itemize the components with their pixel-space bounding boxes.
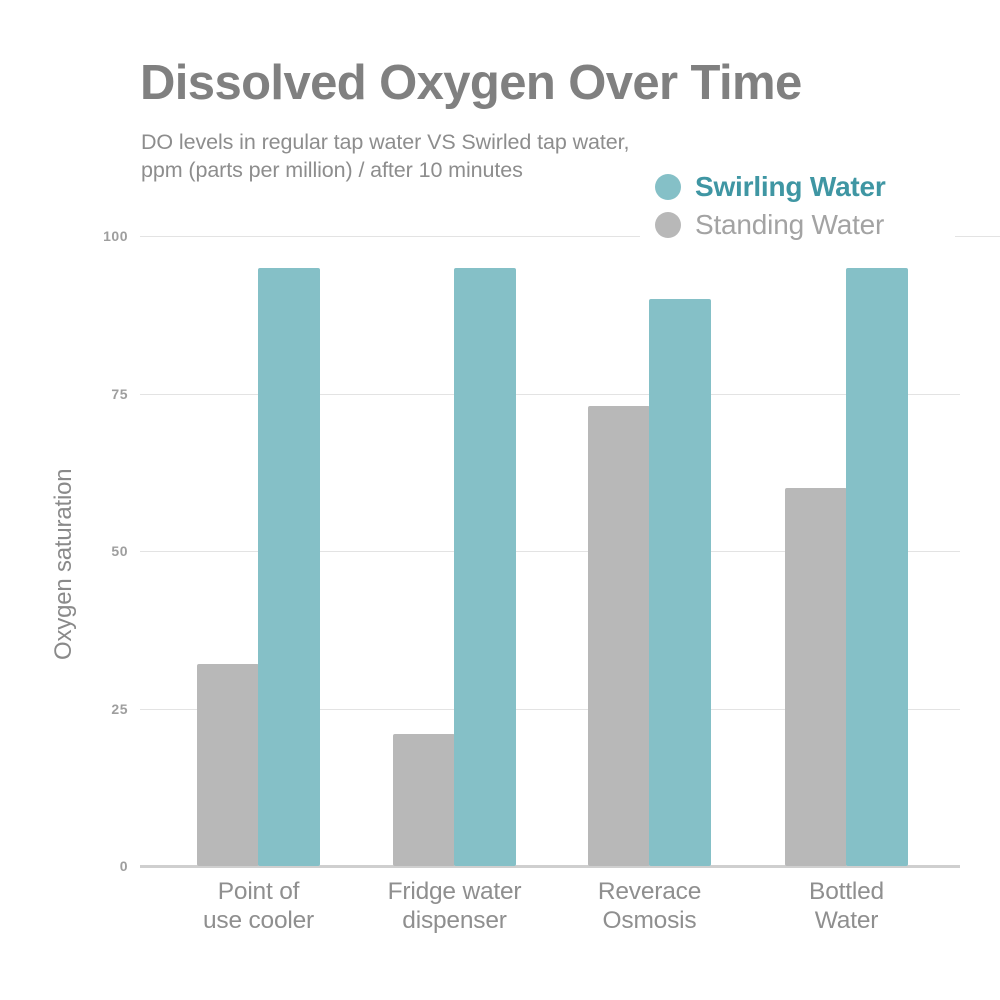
x-axis-label-line-2: dispenser [355,907,555,936]
x-axis-label-line-1: Reverace [550,878,750,907]
bar-standing-3 [588,406,650,866]
legend-swatch-swirling-water [655,174,681,200]
x-axis-label-line-2: Water [747,907,947,936]
y-axis-title-wrap: Oxygen saturation [50,0,90,1000]
y-axis-tick-label: 50 [68,543,128,559]
legend-item-swirling-water: Swirling Water [655,168,985,206]
x-axis-label-3: ReveraceOsmosis [550,878,750,936]
x-axis-label-line-1: Point of [159,878,359,907]
x-axis-label-4: BottledWater [747,878,947,936]
legend-label-swirling-water: Swirling Water [695,171,886,203]
x-axis-label-line-1: Bottled [747,878,947,907]
gridline [955,236,1000,237]
x-axis-label-line-2: Osmosis [550,907,750,936]
y-axis-tick-label: 25 [68,701,128,717]
bar-standing-4 [785,488,847,866]
x-axis-label-1: Point ofuse cooler [159,878,359,936]
gridline [140,236,640,237]
y-axis-tick-label: 100 [68,228,128,244]
bar-standing-2 [393,734,455,866]
x-axis-label-2: Fridge waterdispenser [355,878,555,936]
bar-swirling-4 [846,268,908,867]
chart-legend: Swirling Water Standing Water [655,168,985,244]
legend-swatch-standing-water [655,212,681,238]
x-axis-label-line-2: use cooler [159,907,359,936]
x-axis-label-line-1: Fridge water [355,878,555,907]
chart-root: Dissolved Oxygen Over Time DO levels in … [0,0,1000,1000]
y-axis-tick-label: 0 [68,858,128,874]
bar-standing-1 [197,664,259,866]
bar-swirling-1 [258,268,320,867]
y-axis-tick-label: 75 [68,386,128,402]
bar-swirling-2 [454,268,516,867]
y-axis-title: Oxygen saturation [50,360,78,660]
chart-title: Dissolved Oxygen Over Time [140,58,900,109]
bar-swirling-3 [649,299,711,866]
plot-area: 0255075100 [140,236,960,866]
chart-subtitle-line-1: DO levels in regular tap water VS Swirle… [141,128,761,156]
